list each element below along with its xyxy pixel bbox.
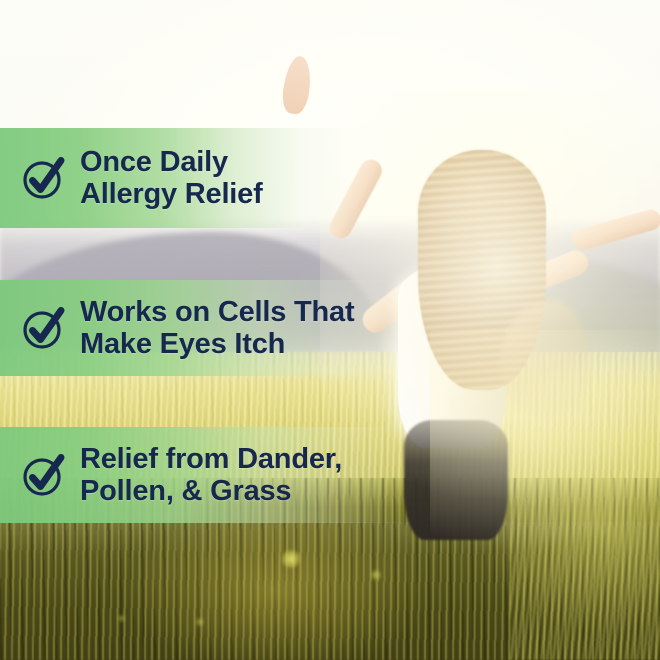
- check-circle-icon: [18, 449, 70, 501]
- benefit-text-3: Relief from Dander, Pollen, & Grass: [80, 443, 342, 508]
- dark-skirt: [404, 420, 508, 540]
- benefit-banner-3: Relief from Dander, Pollen, & Grass: [0, 427, 400, 523]
- product-marketing-image: Once Daily Allergy Relief Works on Cells…: [0, 0, 660, 660]
- check-circle-icon: [18, 152, 70, 204]
- check-circle-icon: [18, 302, 70, 354]
- left-hand: [280, 54, 314, 115]
- right-forearm: [569, 207, 660, 253]
- benefit-text-2: Works on Cells That Make Eyes Itch: [80, 296, 354, 361]
- benefit-banner-1: Once Daily Allergy Relief: [0, 128, 360, 228]
- benefit-banner-2: Works on Cells That Make Eyes Itch: [0, 280, 392, 376]
- benefit-text-1: Once Daily Allergy Relief: [80, 146, 263, 211]
